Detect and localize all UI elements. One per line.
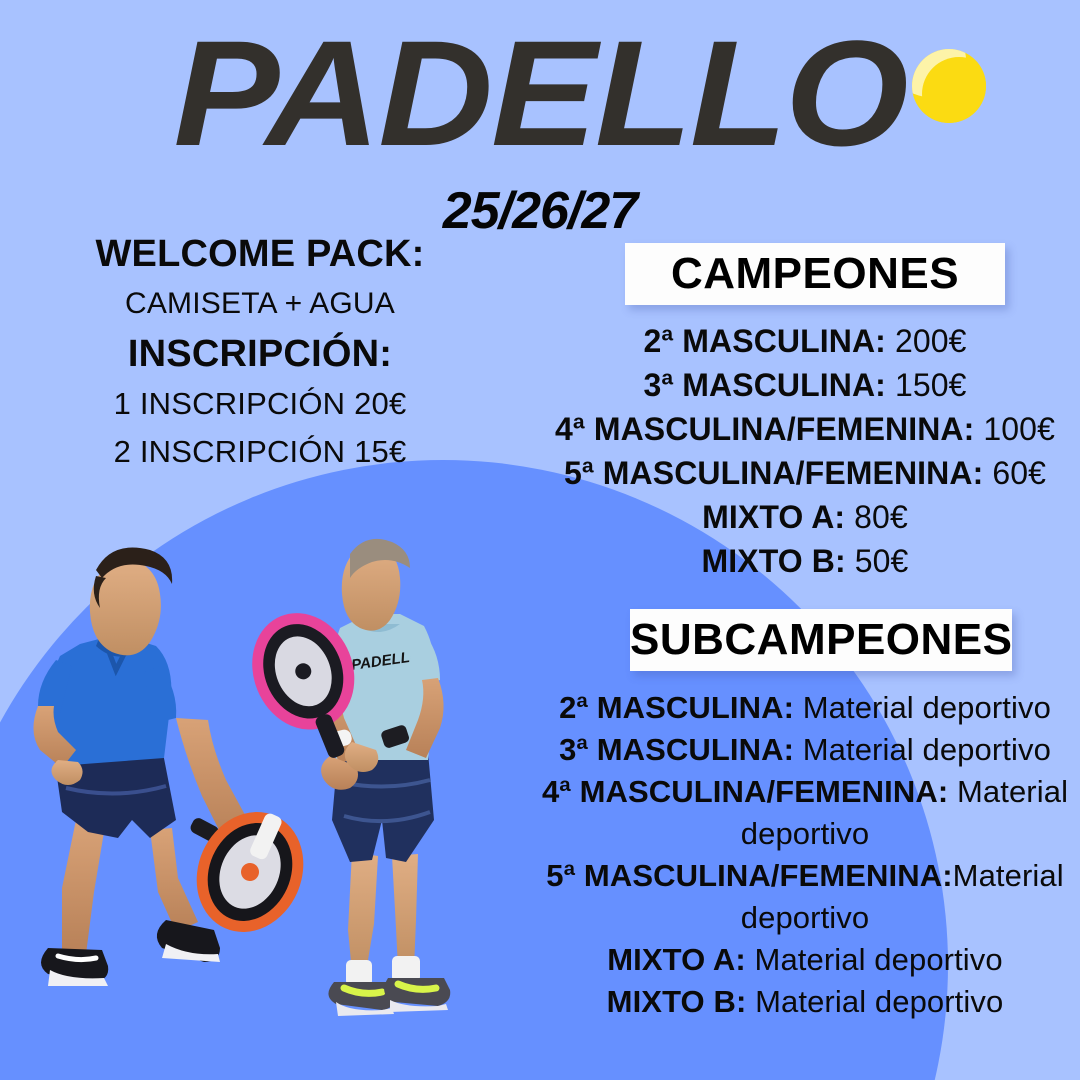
prize-row: 3ª MASCULINA: 150€ <box>540 363 1070 407</box>
prize-row: 5ª MASCULINA/FEMENINA:Material deportivo <box>540 855 1070 939</box>
prize-row: 3ª MASCULINA: Material deportivo <box>540 729 1070 771</box>
inscription-line: 2 INSCRIPCIÓN 15€ <box>10 428 510 476</box>
padel-players-photo: PADELLO <box>0 520 560 1080</box>
prize-amount: 100€ <box>974 411 1055 447</box>
welcome-pack-label: WELCOME PACK: <box>10 228 510 280</box>
welcome-pack-value: CAMISETA + AGUA <box>10 280 510 328</box>
prize-category: MIXTO A: <box>702 499 845 535</box>
prizes-column: CAMPEONES 2ª MASCULINA: 200€ 3ª MASCULIN… <box>540 240 1070 1023</box>
prize-amount: 80€ <box>845 499 908 535</box>
prize-amount: Material deportivo <box>794 732 1051 767</box>
prize-category: 3ª MASCULINA: <box>643 367 885 403</box>
prize-category: 4ª MASCULINA/FEMENINA: <box>542 774 948 809</box>
prize-amount: 50€ <box>846 543 909 579</box>
prize-amount: 200€ <box>886 323 967 359</box>
prize-row: 2ª MASCULINA: Material deportivo <box>540 687 1070 729</box>
prize-row: 4ª MASCULINA/FEMENINA: Material deportiv… <box>540 771 1070 855</box>
prize-category: 4ª MASCULINA/FEMENINA: <box>555 411 974 447</box>
prize-category: MIXTO A: <box>607 942 746 977</box>
prize-amount: Material deportivo <box>746 942 1003 977</box>
runners-up-heading-banner: SUBCAMPEONES <box>630 609 1012 671</box>
prize-row: MIXTO A: 80€ <box>540 495 1070 539</box>
prize-category: 3ª MASCULINA: <box>559 732 794 767</box>
prize-amount: 60€ <box>983 455 1046 491</box>
prize-row: MIXTO B: Material deportivo <box>540 981 1070 1023</box>
prize-category: 2ª MASCULINA: <box>643 323 885 359</box>
poster-canvas: PADELLO 25/26/27 WELCOME PACK: CAMISETA … <box>0 0 1080 1080</box>
brand-title-area: PADELLO <box>0 14 1080 184</box>
prize-row: 4ª MASCULINA/FEMENINA: 100€ <box>540 407 1070 451</box>
prize-row: 5ª MASCULINA/FEMENINA: 60€ <box>540 451 1070 495</box>
prize-category: 5ª MASCULINA/FEMENINA: <box>564 455 983 491</box>
inscription-label: INSCRIPCIÓN: <box>10 328 510 380</box>
prize-category: MIXTO B: <box>607 984 747 1019</box>
prize-row: 2ª MASCULINA: 200€ <box>540 319 1070 363</box>
player-left <box>33 548 317 987</box>
champions-heading-banner: CAMPEONES <box>625 243 1005 305</box>
prize-amount: 150€ <box>886 367 967 403</box>
prize-category: MIXTO B: <box>702 543 846 579</box>
tennis-ball-icon <box>912 49 986 123</box>
player-right: PADELLO <box>242 539 450 1016</box>
prize-category: 5ª MASCULINA/FEMENINA: <box>546 858 952 893</box>
inscription-line: 1 INSCRIPCIÓN 20€ <box>10 380 510 428</box>
champions-prize-list: 2ª MASCULINA: 200€ 3ª MASCULINA: 150€ 4ª… <box>540 319 1070 583</box>
prize-row: MIXTO B: 50€ <box>540 539 1070 583</box>
runners-up-prize-list: 2ª MASCULINA: Material deportivo 3ª MASC… <box>540 687 1070 1023</box>
prize-category: 2ª MASCULINA: <box>559 690 794 725</box>
prize-row: MIXTO A: Material deportivo <box>540 939 1070 981</box>
prize-amount: Material deportivo <box>794 690 1051 725</box>
info-block: WELCOME PACK: CAMISETA + AGUA INSCRIPCIÓ… <box>10 228 510 476</box>
players-illustration: PADELLO <box>0 520 560 1080</box>
prize-amount: Material deportivo <box>746 984 1003 1019</box>
